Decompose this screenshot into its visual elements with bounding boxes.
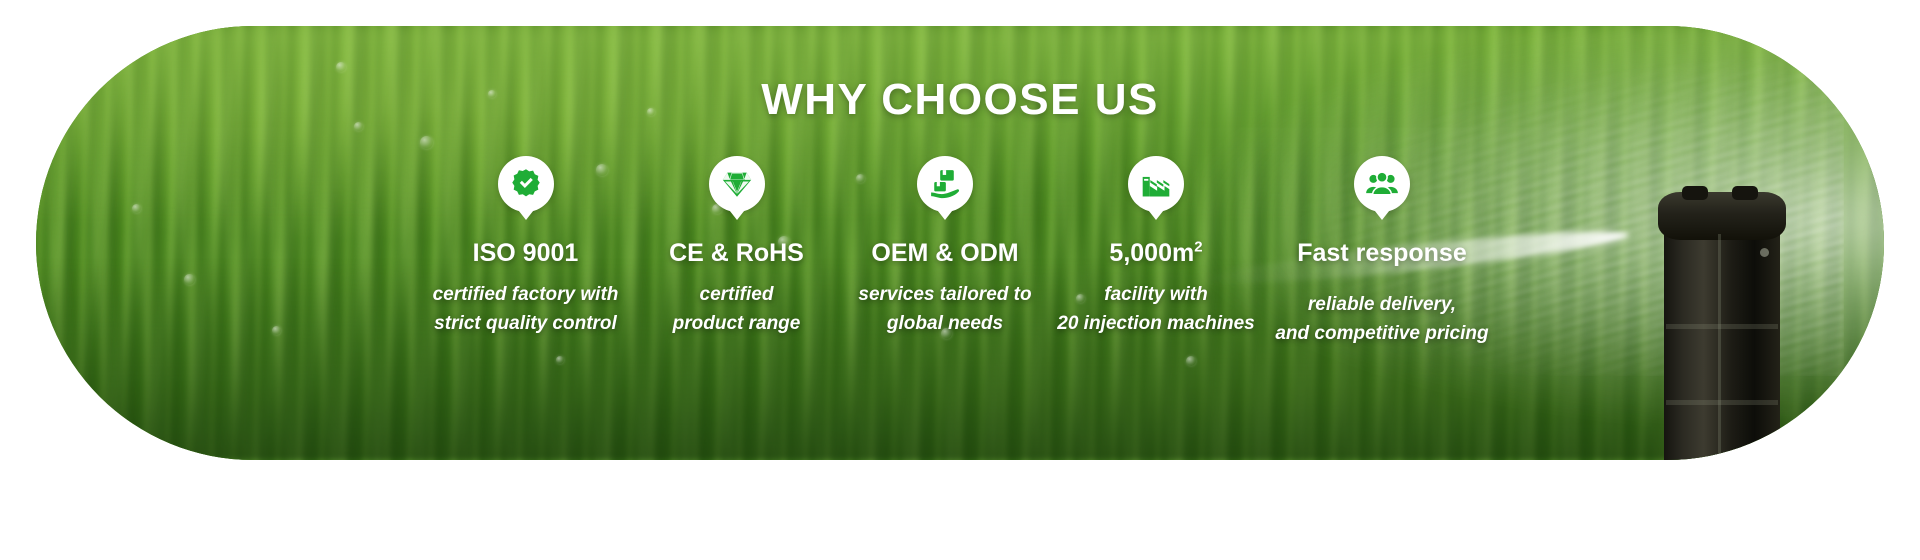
banner-rounded-frame: WHY CHOOSE US ISO 9001 certified factory… (36, 26, 1884, 460)
feature-description-line-2: 20 injection machines (1057, 309, 1254, 338)
hand-holding-box-icon (917, 156, 973, 212)
feature-description-line-1: certified (673, 280, 801, 309)
feature-title-value: 5,000m (1109, 239, 1194, 267)
people-group-icon (1354, 156, 1410, 212)
feature-description: services tailored to global needs (858, 280, 1031, 339)
feature-description-line-2: and competitive pricing (1275, 319, 1488, 348)
why-choose-us-banner: WHY CHOOSE US ISO 9001 certified factory… (0, 0, 1920, 560)
feature-item-iso-9001: ISO 9001 certified factory with strict q… (423, 156, 628, 338)
feature-title: OEM & ODM (871, 240, 1018, 268)
feature-description-line-2: strict quality control (433, 309, 619, 338)
page-title: WHY CHOOSE US (761, 78, 1159, 122)
feature-item-fast-response: Fast response reliable delivery, and com… (1267, 156, 1497, 348)
feature-description: certified factory with strict quality co… (433, 280, 619, 339)
feature-title: 5,000m2 (1109, 240, 1202, 268)
feature-item-oem-odm: OEM & ODM services tailored to global ne… (845, 156, 1045, 338)
feature-title: Fast response (1297, 240, 1467, 268)
feature-list: ISO 9001 certified factory with strict q… (325, 156, 1595, 348)
feature-description-line-2: product range (673, 309, 801, 338)
feature-item-ce-rohs: CE & RoHS certified product range (634, 156, 839, 338)
feature-description: facility with 20 injection machines (1057, 280, 1254, 339)
banner-content: WHY CHOOSE US ISO 9001 certified factory… (36, 26, 1884, 460)
feature-title: CE & RoHS (669, 240, 804, 268)
feature-item-facility-area: 5,000m2 facility with 20 injection machi… (1051, 156, 1261, 338)
feature-description-line-1: services tailored to (858, 280, 1031, 309)
feature-description: certified product range (673, 280, 801, 339)
verified-badge-check-icon (498, 156, 554, 212)
feature-description-line-1: certified factory with (433, 280, 619, 309)
factory-icon (1128, 156, 1184, 212)
feature-description-line-2: global needs (858, 309, 1031, 338)
feature-description-line-1: facility with (1057, 280, 1254, 309)
feature-title-superscript: 2 (1194, 239, 1202, 256)
diamond-gem-icon (709, 156, 765, 212)
feature-title: ISO 9001 (473, 240, 579, 268)
feature-description: reliable delivery, and competitive prici… (1275, 290, 1488, 349)
feature-description-line-1: reliable delivery, (1275, 290, 1488, 319)
